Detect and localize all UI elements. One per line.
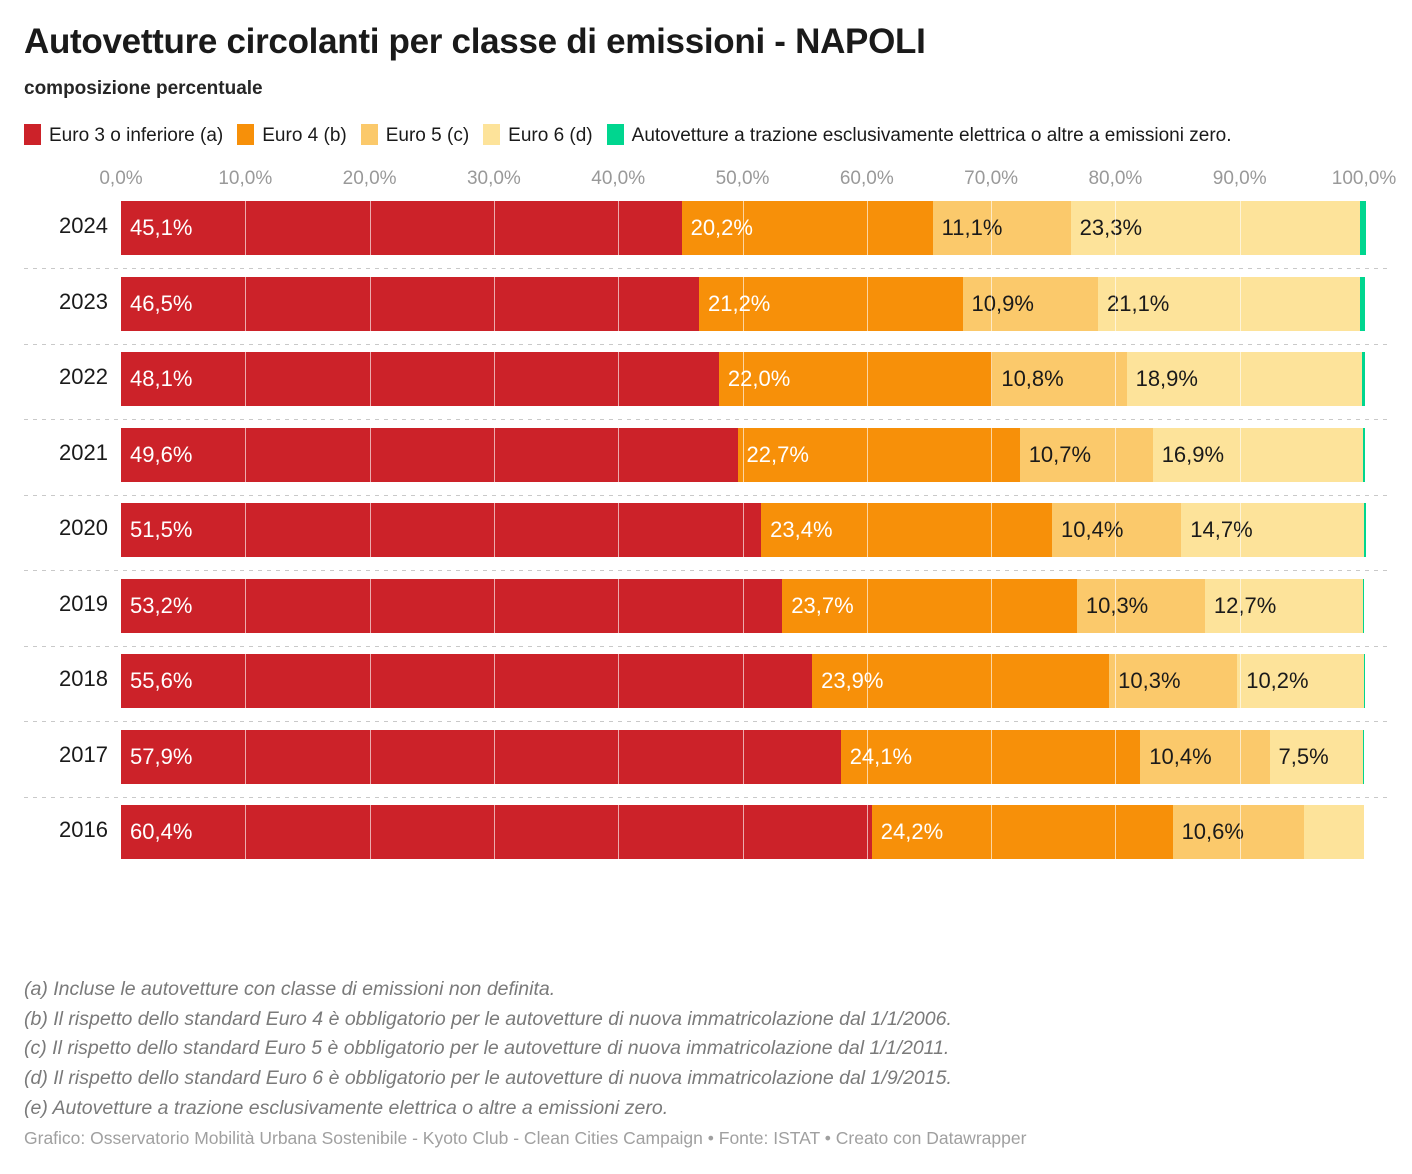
legend-swatch-icon <box>483 124 500 145</box>
bar-segment[interactable]: 22,7% <box>738 428 1020 482</box>
footnote-line-1: (b) Il rispetto dello standard Euro 4 è … <box>24 1005 1388 1035</box>
bar-segment[interactable]: 10,9% <box>963 277 1098 331</box>
legend-item-1[interactable]: Euro 4 (b) <box>237 125 346 146</box>
row-separator <box>24 419 1388 420</box>
stacked-bar-2022[interactable]: 48,1%22,0%10,8%18,9% <box>121 352 1364 406</box>
bar-segment[interactable]: 23,3% <box>1071 201 1361 255</box>
row-separator <box>24 646 1388 647</box>
y-axis-label-2023: 2023 <box>24 274 108 330</box>
legend-item-label: Euro 5 (c) <box>386 125 469 146</box>
legend-item-3[interactable]: Euro 6 (d) <box>483 125 592 146</box>
bar-value-label: 22,7% <box>747 428 809 482</box>
bar-segment[interactable]: 49,6% <box>121 428 738 482</box>
x-tick-label: 0,0% <box>99 168 142 190</box>
bar-row: 202149,6%22,7%10,7%16,9% <box>24 425 1388 501</box>
y-axis-label-2021: 2021 <box>24 425 108 481</box>
bar-segment[interactable]: 57,9% <box>121 730 841 784</box>
bar-value-label: 14,7% <box>1190 503 1252 557</box>
y-axis-label-2024: 2024 <box>24 198 108 254</box>
bar-segment[interactable]: 12,7% <box>1205 579 1363 633</box>
bar-value-label: 10,8% <box>1001 352 1063 406</box>
bar-value-label: 24,1% <box>850 730 912 784</box>
legend-swatch-icon <box>607 124 624 145</box>
bar-segment[interactable]: 16,9% <box>1153 428 1363 482</box>
x-tick-label: 30,0% <box>467 168 521 190</box>
x-tick-label: 80,0% <box>1088 168 1142 190</box>
bar-segment[interactable]: 10,6% <box>1173 805 1305 859</box>
stacked-bar-2020[interactable]: 51,5%23,4%10,4%14,7% <box>121 503 1364 557</box>
legend-item-label: Euro 4 (b) <box>262 125 346 146</box>
stacked-bar-2018[interactable]: 55,6%23,9%10,3%10,2% <box>121 654 1364 708</box>
row-separator <box>24 797 1388 798</box>
legend-item-label: Euro 6 (d) <box>508 125 592 146</box>
bar-segment[interactable]: 14,7% <box>1181 503 1364 557</box>
bar-row: 202445,1%20,2%11,1%23,3% <box>24 198 1388 274</box>
bar-value-label: 23,3% <box>1080 201 1142 255</box>
bar-value-label: 10,2% <box>1246 654 1308 708</box>
bar-segment[interactable] <box>1360 277 1365 331</box>
bar-segment[interactable]: 18,9% <box>1127 352 1362 406</box>
bar-value-label: 48,1% <box>130 352 192 406</box>
bar-segment[interactable]: 60,4% <box>121 805 872 859</box>
y-axis-label-2016: 2016 <box>24 802 108 858</box>
bar-value-label: 10,6% <box>1182 805 1244 859</box>
stacked-bar-2016[interactable]: 60,4%24,2%10,6% <box>121 805 1364 859</box>
bar-value-label: 10,3% <box>1118 654 1180 708</box>
bar-value-label: 23,7% <box>791 579 853 633</box>
bar-segment[interactable]: 10,3% <box>1077 579 1205 633</box>
legend-item-label: Autovetture a trazione esclusivamente el… <box>632 125 1232 146</box>
chart-credit: Grafico: Osservatorio Mobilità Urbana So… <box>24 1128 1388 1149</box>
page-title: Autovetture circolanti per classe di emi… <box>24 0 1388 62</box>
bar-value-label: 24,2% <box>881 805 943 859</box>
bar-segment[interactable] <box>1364 654 1365 708</box>
bar-value-label: 49,6% <box>130 428 192 482</box>
bar-value-label: 57,9% <box>130 730 192 784</box>
bar-value-label: 23,4% <box>770 503 832 557</box>
legend-item-0[interactable]: Euro 3 o inferiore (a) <box>24 125 223 146</box>
bar-segment[interactable]: 51,5% <box>121 503 761 557</box>
legend-swatch-icon <box>237 124 254 145</box>
bar-segment[interactable]: 48,1% <box>121 352 719 406</box>
bar-segment[interactable] <box>1304 805 1364 859</box>
bar-row: 202248,1%22,0%10,8%18,9% <box>24 349 1388 425</box>
bar-value-label: 16,9% <box>1162 428 1224 482</box>
bar-segment[interactable]: 10,7% <box>1020 428 1153 482</box>
bar-row: 202346,5%21,2%10,9%21,1% <box>24 274 1388 350</box>
bar-value-label: 53,2% <box>130 579 192 633</box>
bar-segment[interactable]: 53,2% <box>121 579 782 633</box>
bar-segment[interactable] <box>1363 428 1365 482</box>
bar-segment[interactable] <box>1363 730 1364 784</box>
bar-value-label: 11,1% <box>942 201 1003 255</box>
bar-value-label: 21,2% <box>708 277 770 331</box>
bar-value-label: 12,7% <box>1214 579 1276 633</box>
bar-value-label: 23,9% <box>821 654 883 708</box>
x-tick-label: 60,0% <box>840 168 894 190</box>
y-axis-label-2020: 2020 <box>24 500 108 556</box>
bar-segment[interactable]: 10,3% <box>1109 654 1237 708</box>
bar-value-label: 46,5% <box>130 277 192 331</box>
bar-segment[interactable]: 21,1% <box>1098 277 1360 331</box>
y-axis-label-2018: 2018 <box>24 651 108 707</box>
y-axis-label-2019: 2019 <box>24 576 108 632</box>
x-axis: 0,0%10,0%20,0%30,0%40,0%50,0%60,0%70,0%8… <box>24 168 1388 194</box>
bar-segment[interactable]: 24,2% <box>872 805 1173 859</box>
bar-value-label: 22,0% <box>728 352 790 406</box>
bar-value-label: 10,4% <box>1061 503 1123 557</box>
bar-rows: 202445,1%20,2%11,1%23,3%202346,5%21,2%10… <box>24 198 1388 858</box>
bar-segment[interactable] <box>1364 503 1366 557</box>
bar-value-label: 45,1% <box>130 201 192 255</box>
bar-segment[interactable]: 21,2% <box>699 277 963 331</box>
legend-swatch-icon <box>361 124 378 145</box>
y-axis-label-2022: 2022 <box>24 349 108 405</box>
chart-subtitle: composizione percentuale <box>24 62 1388 101</box>
bar-segment[interactable] <box>1362 352 1366 406</box>
x-tick-label: 20,0% <box>343 168 397 190</box>
bar-segment[interactable]: 23,7% <box>782 579 1077 633</box>
row-separator <box>24 344 1388 345</box>
row-separator <box>24 495 1388 496</box>
bar-value-label: 60,4% <box>130 805 192 859</box>
bar-segment[interactable]: 11,1% <box>933 201 1071 255</box>
legend-swatch-icon <box>24 124 41 145</box>
stacked-bar-2017[interactable]: 57,9%24,1%10,4%7,5% <box>121 730 1364 784</box>
bar-value-label: 10,4% <box>1149 730 1211 784</box>
bar-row: 201953,2%23,7%10,3%12,7% <box>24 576 1388 652</box>
stacked-bar-2023[interactable]: 46,5%21,2%10,9%21,1% <box>121 277 1364 331</box>
bar-value-label: 10,9% <box>972 277 1034 331</box>
bar-segment[interactable] <box>1363 579 1364 633</box>
bar-segment[interactable] <box>1360 201 1366 255</box>
bar-segment[interactable]: 10,4% <box>1140 730 1269 784</box>
bar-value-label: 10,3% <box>1086 579 1148 633</box>
legend-item-2[interactable]: Euro 5 (c) <box>361 125 469 146</box>
bar-row: 201757,9%24,1%10,4%7,5% <box>24 727 1388 803</box>
legend-item-4[interactable]: Autovetture a trazione esclusivamente el… <box>607 125 1232 146</box>
bar-segment[interactable]: 45,1% <box>121 201 682 255</box>
footnote-line-2: (c) Il rispetto dello standard Euro 5 è … <box>24 1034 1388 1064</box>
bar-value-label: 51,5% <box>130 503 192 557</box>
chart-legend: Euro 3 o inferiore (a)Euro 4 (b)Euro 5 (… <box>24 101 1388 150</box>
bar-value-label: 18,9% <box>1136 352 1198 406</box>
footnotes: (a) Incluse le autovetture con classe di… <box>24 975 1388 1123</box>
row-separator <box>24 268 1388 269</box>
footnote-line-0: (a) Incluse le autovetture con classe di… <box>24 975 1388 1005</box>
x-tick-label: 70,0% <box>964 168 1018 190</box>
stacked-bar-2021[interactable]: 49,6%22,7%10,7%16,9% <box>121 428 1364 482</box>
stacked-bar-2024[interactable]: 45,1%20,2%11,1%23,3% <box>121 201 1364 255</box>
bar-segment[interactable]: 23,9% <box>812 654 1109 708</box>
x-tick-label: 10,0% <box>218 168 272 190</box>
chart-page: Autovetture circolanti per classe di emi… <box>0 0 1412 1174</box>
footnote-line-3: (d) Il rispetto dello standard Euro 6 è … <box>24 1064 1388 1094</box>
row-separator <box>24 570 1388 571</box>
x-tick-label: 90,0% <box>1213 168 1267 190</box>
bar-segment[interactable]: 24,1% <box>841 730 1141 784</box>
bar-row: 201660,4%24,2%10,6% <box>24 802 1388 878</box>
bar-row: 202051,5%23,4%10,4%14,7% <box>24 500 1388 576</box>
bar-value-label: 20,2% <box>691 201 753 255</box>
bar-value-label: 55,6% <box>130 654 192 708</box>
footnote-line-4: (e) Autovetture a trazione esclusivament… <box>24 1094 1388 1124</box>
bar-segment[interactable]: 23,4% <box>761 503 1052 557</box>
row-separator <box>24 721 1388 722</box>
bar-value-label: 7,5% <box>1279 730 1329 784</box>
bar-segment[interactable]: 10,2% <box>1237 654 1364 708</box>
bar-segment[interactable]: 46,5% <box>121 277 699 331</box>
plot-area: 0,0%10,0%20,0%30,0%40,0%50,0%60,0%70,0%8… <box>24 168 1388 858</box>
bar-row: 201855,6%23,9%10,3%10,2% <box>24 651 1388 727</box>
bar-segment[interactable]: 55,6% <box>121 654 812 708</box>
bar-value-label: 21,1% <box>1107 277 1169 331</box>
x-tick-label: 40,0% <box>591 168 645 190</box>
bar-segment[interactable]: 22,0% <box>719 352 992 406</box>
x-tick-label: 50,0% <box>716 168 770 190</box>
stacked-bar-2019[interactable]: 53,2%23,7%10,3%12,7% <box>121 579 1364 633</box>
bar-segment[interactable]: 20,2% <box>682 201 933 255</box>
bar-value-label: 10,7% <box>1029 428 1091 482</box>
x-tick-label: 100,0% <box>1332 168 1396 190</box>
bar-segment[interactable]: 7,5% <box>1270 730 1363 784</box>
bar-segment[interactable]: 10,4% <box>1052 503 1181 557</box>
legend-item-label: Euro 3 o inferiore (a) <box>49 125 223 146</box>
bar-segment[interactable]: 10,8% <box>992 352 1126 406</box>
y-axis-label-2017: 2017 <box>24 727 108 783</box>
